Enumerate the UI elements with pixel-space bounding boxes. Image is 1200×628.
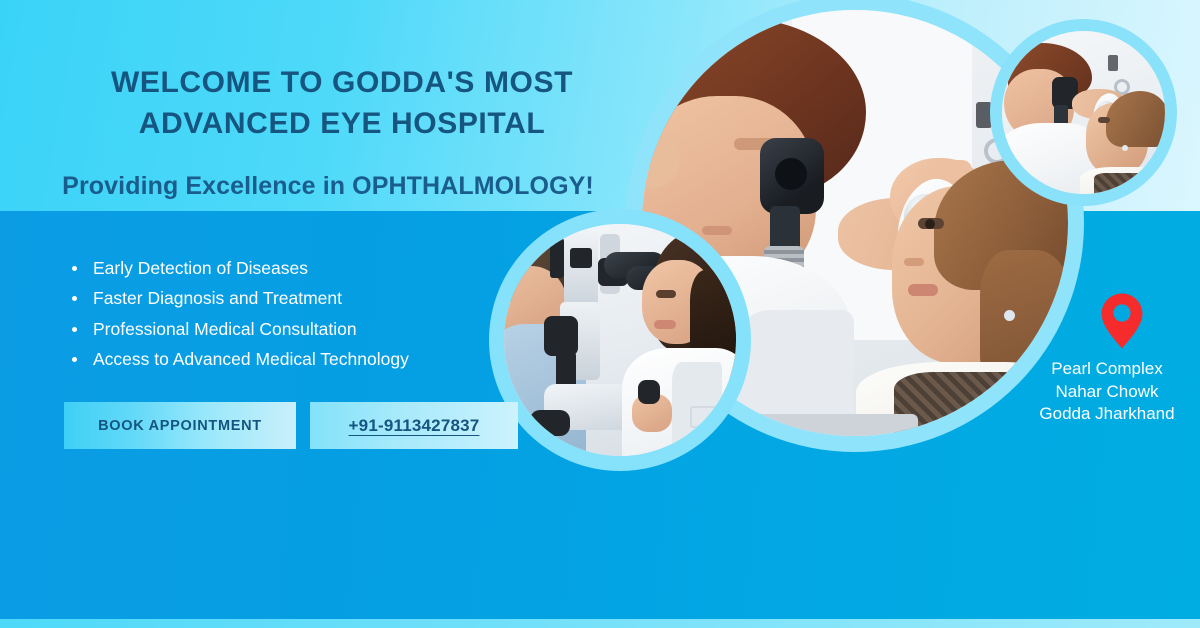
cta-button-row: BOOK APPOINTMENT +91-9113427837 [64,402,518,449]
feature-label: Faster Diagnosis and Treatment [93,288,342,308]
location-pin-icon [1100,292,1144,350]
address-block: Pearl Complex Nahar Chowk Godda Jharkhan… [1018,358,1196,426]
background-band-footer [0,619,1200,628]
address-line-3: Godda Jharkhand [1018,403,1196,426]
feature-label: Early Detection of Diseases [93,258,308,278]
feature-list: Early Detection of Diseases Faster Diagn… [70,253,409,375]
page-title: WELCOME TO GODDA'S MOST ADVANCED EYE HOS… [62,62,622,145]
hero-banner: WELCOME TO GODDA'S MOST ADVANCED EYE HOS… [0,0,1200,628]
list-item: Early Detection of Diseases [70,253,409,283]
page-subtitle: Providing Excellence in OPHTHALMOLOGY! [22,172,634,201]
bullet-dot-icon [72,327,77,332]
bullet-dot-icon [72,357,77,362]
book-appointment-button[interactable]: BOOK APPOINTMENT [64,402,296,449]
list-item: Professional Medical Consultation [70,314,409,344]
list-item: Faster Diagnosis and Treatment [70,283,409,313]
bullet-dot-icon [72,266,77,271]
address-line-2: Nahar Chowk [1018,381,1196,404]
feature-label: Access to Advanced Medical Technology [93,349,409,369]
bullet-dot-icon [72,296,77,301]
photo-top-right-eye-test [1002,31,1165,194]
feature-label: Professional Medical Consultation [93,319,357,339]
phone-number-label: +91-9113427837 [349,416,480,436]
phone-call-button[interactable]: +91-9113427837 [310,402,518,449]
photo-left-slit-lamp [504,224,736,456]
list-item: Access to Advanced Medical Technology [70,344,409,374]
address-line-1: Pearl Complex [1018,358,1196,381]
